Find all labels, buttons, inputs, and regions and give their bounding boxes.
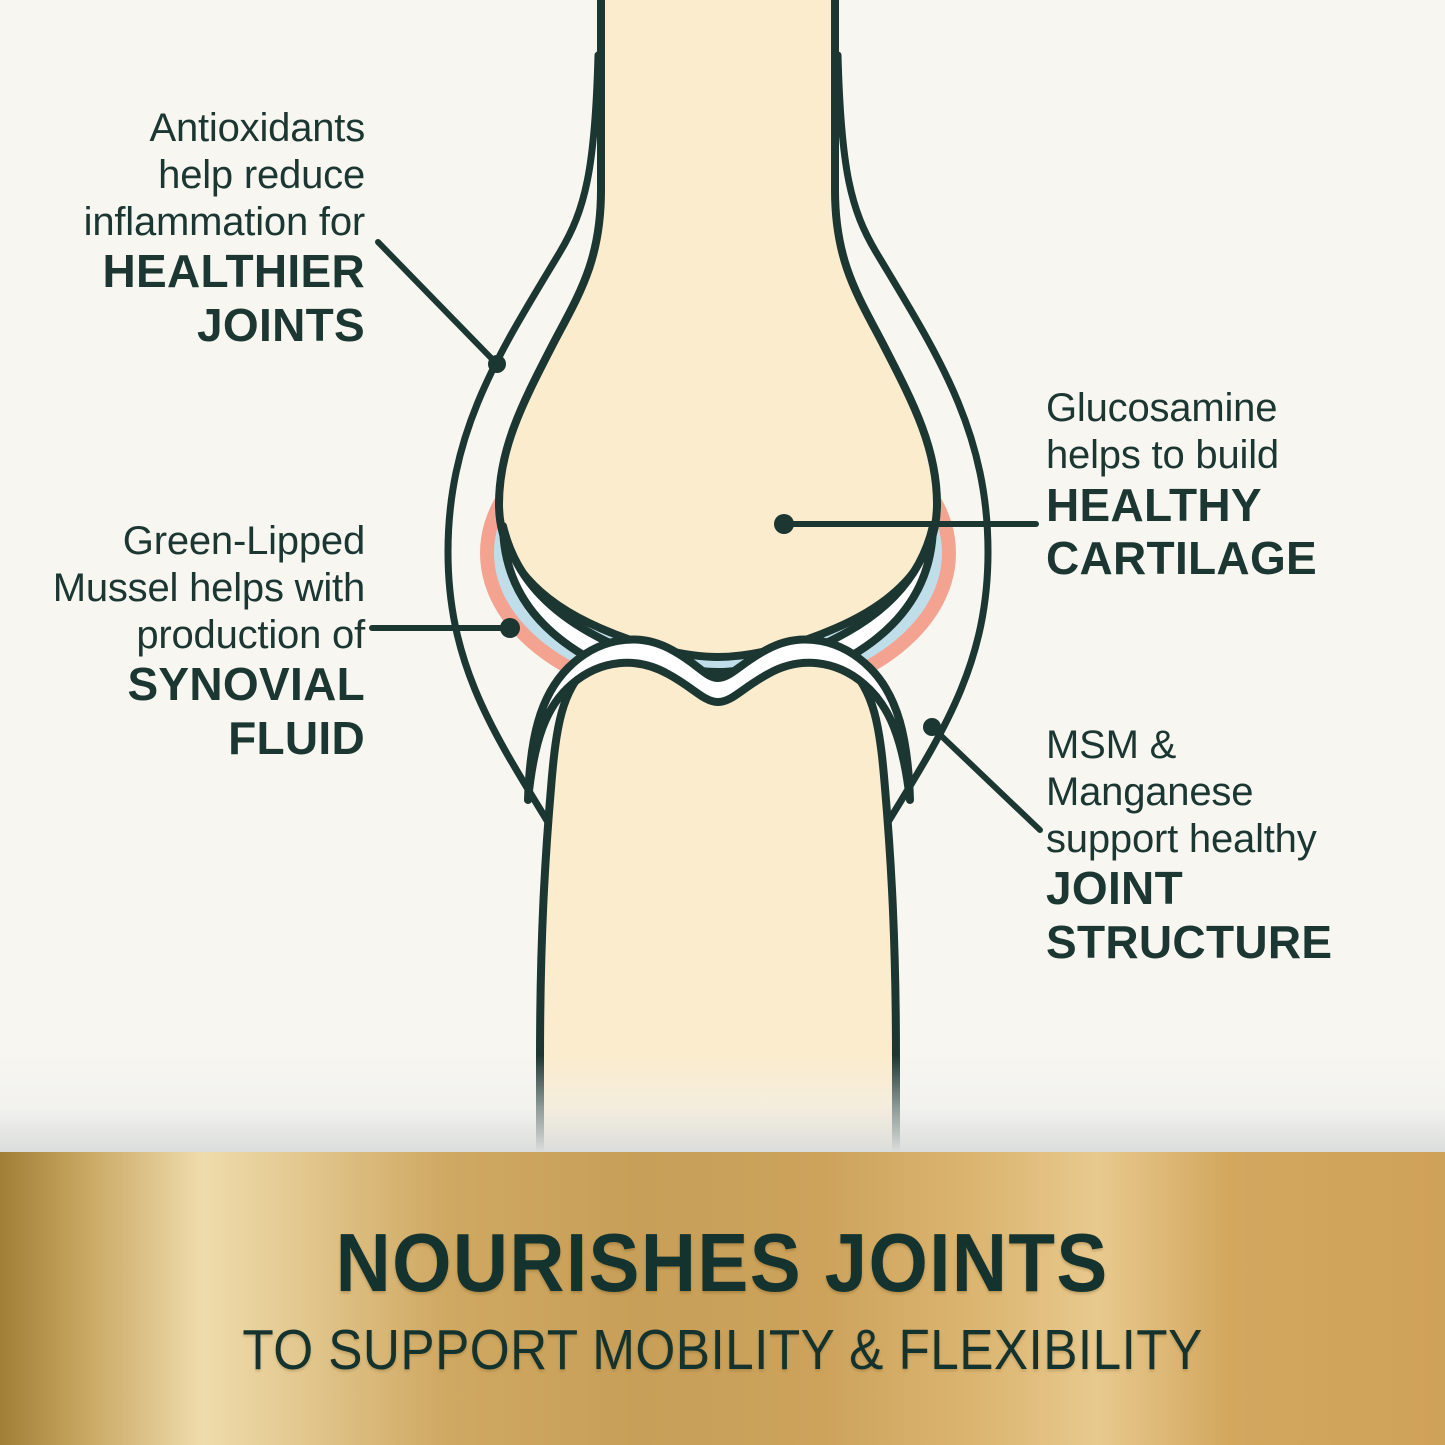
callout-joint-structure: MSM & Manganese support healthy JOINT ST… xyxy=(1046,722,1436,970)
leader-line-joint-structure xyxy=(923,718,1040,830)
callout-glucosamine-emphasis-1: HEALTHY xyxy=(1046,479,1436,533)
callout-joint-line-2: Manganese xyxy=(1046,769,1436,816)
bottom-fade-overlay xyxy=(0,1055,1445,1152)
infographic-page: Antioxidants help reduce inflammation fo… xyxy=(0,0,1445,1445)
banner-subline: TO SUPPORT MOBILITY & FLEXIBILITY xyxy=(242,1317,1202,1383)
callout-antioxidants-emphasis-2: JOINTS xyxy=(20,299,365,353)
callout-glucosamine-line-2: helps to build xyxy=(1046,432,1436,479)
callout-antioxidants-line-3: inflammation for xyxy=(20,199,365,246)
callout-antioxidants-emphasis-1: HEALTHIER xyxy=(20,245,365,299)
callout-synovial-fluid: Green-Lipped Mussel helps with productio… xyxy=(0,518,365,766)
gold-banner: NOURISHES JOINTS TO SUPPORT MOBILITY & F… xyxy=(0,1152,1445,1445)
leader-line-synovial xyxy=(372,618,520,638)
banner-headline: NOURISHES JOINTS xyxy=(336,1215,1109,1311)
callout-synovial-emphasis-2: FLUID xyxy=(0,712,365,766)
callout-joint-line-3: support healthy xyxy=(1046,816,1436,863)
callout-synovial-line-3: production of xyxy=(0,612,365,659)
callout-synovial-line-1: Green-Lipped xyxy=(0,518,365,565)
callout-joint-emphasis-1: JOINT xyxy=(1046,862,1436,916)
leader-line-antioxidants xyxy=(378,242,506,373)
callout-glucosamine-line-1: Glucosamine xyxy=(1046,385,1436,432)
callout-glucosamine: Glucosamine helps to build HEALTHY CARTI… xyxy=(1046,385,1436,586)
callout-joint-line-1: MSM & xyxy=(1046,722,1436,769)
callout-glucosamine-emphasis-2: CARTILAGE xyxy=(1046,532,1436,586)
callout-antioxidants: Antioxidants help reduce inflammation fo… xyxy=(20,105,365,353)
callout-synovial-emphasis-1: SYNOVIAL xyxy=(0,658,365,712)
callout-antioxidants-line-1: Antioxidants xyxy=(20,105,365,152)
callout-synovial-line-2: Mussel helps with xyxy=(0,565,365,612)
callout-antioxidants-line-2: help reduce xyxy=(20,152,365,199)
callout-joint-emphasis-2: STRUCTURE xyxy=(1046,916,1436,970)
upper-bone-femur xyxy=(499,0,937,657)
